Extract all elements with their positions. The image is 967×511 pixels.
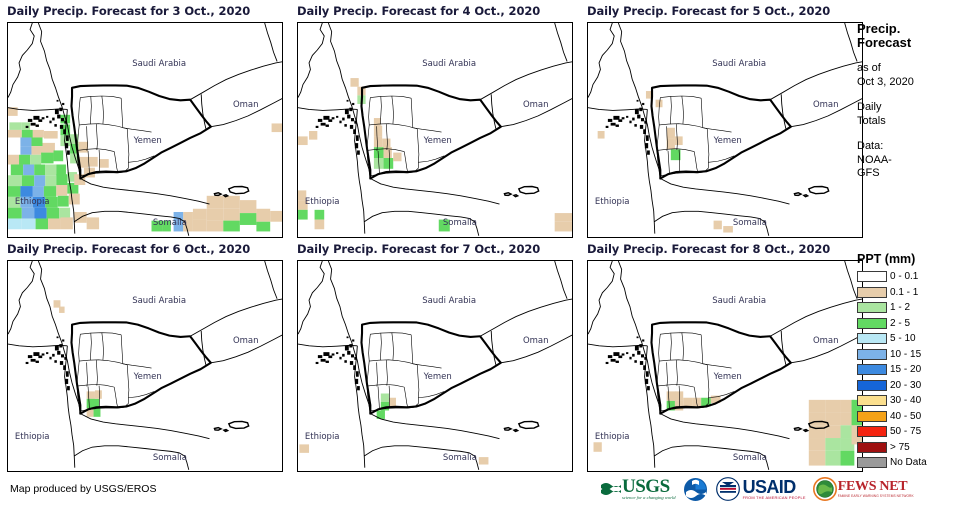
ppt-legend-swatch — [857, 395, 887, 406]
panel-2-map: Saudi ArabiaOmanYemenEthiopiaSomalia — [297, 22, 573, 238]
ppt-legend-row: 1 - 2 — [857, 300, 967, 316]
panel-3-title: Daily Precip. Forecast for 5 Oct., 2020 — [587, 4, 830, 18]
panel-3-raster — [588, 23, 863, 238]
ppt-legend-row: 10 - 15 — [857, 347, 967, 363]
ppt-legend-label: 30 - 40 — [890, 395, 921, 406]
ppt-legend-row: No Data — [857, 455, 967, 471]
panel-2-title: Daily Precip. Forecast for 4 Oct., 2020 — [297, 4, 540, 18]
ppt-legend-row: 0.1 - 1 — [857, 285, 967, 301]
ppt-legend-label: 0 - 0.1 — [890, 271, 918, 282]
ppt-legend-row: 0 - 0.1 — [857, 269, 967, 285]
ppt-legend-swatch — [857, 380, 887, 391]
usgs-logo-tagline: science for a changing world — [622, 496, 676, 501]
sidebar-totals-line1: Daily — [857, 101, 967, 115]
noaa-logo — [683, 476, 708, 502]
sidebar-title-line2: Forecast — [857, 36, 967, 50]
ppt-legend-label: 5 - 10 — [890, 333, 916, 344]
ppt-legend-swatch — [857, 333, 887, 344]
ppt-legend-label: > 75 — [890, 442, 910, 453]
map-credit-text: Map produced by USGS/EROS — [10, 483, 156, 495]
sidebar-title: Precip. Forecast — [857, 22, 967, 50]
ppt-legend-swatch — [857, 349, 887, 360]
panel-2-raster — [298, 23, 573, 238]
panel-4-title: Daily Precip. Forecast for 6 Oct., 2020 — [7, 242, 250, 256]
agency-logo-strip: USGS science for a changing world USAID … — [600, 474, 914, 504]
ppt-legend-label: 10 - 15 — [890, 349, 921, 360]
sidebar-data-source1: NOAA- — [857, 154, 967, 168]
usgs-logo-text: USGS — [622, 477, 676, 496]
usaid-logo: USAID FROM THE AMERICAN PEOPLE — [715, 476, 806, 502]
ppt-legend-row: 2 - 5 — [857, 316, 967, 332]
ppt-legend-label: No Data — [890, 457, 927, 468]
noaa-seal-icon — [683, 477, 708, 502]
ppt-legend-label: 1 - 2 — [890, 302, 910, 313]
ppt-legend-swatch — [857, 457, 887, 468]
ppt-legend-swatch — [857, 287, 887, 298]
panel-5-title: Daily Precip. Forecast for 7 Oct., 2020 — [297, 242, 540, 256]
ppt-legend-row: 15 - 20 — [857, 362, 967, 378]
ppt-legend-swatch — [857, 426, 887, 437]
ppt-legend-row: > 75 — [857, 440, 967, 456]
panel-3-map: Saudi ArabiaOmanYemenEthiopiaSomalia — [587, 22, 863, 238]
fewsnet-logo-text: FEWS NET — [838, 480, 914, 495]
ppt-legend-label: 2 - 5 — [890, 318, 910, 329]
sidebar-data-label: Data: — [857, 140, 967, 154]
panel-5-map: Saudi ArabiaOmanYemenEthiopiaSomalia — [297, 260, 573, 472]
panel-1-map: Saudi ArabiaOmanYemenEthiopiaSomalia — [7, 22, 283, 238]
fewsnet-logo: FEWS NET FAMINE EARLY WARNING SYSTEMS NE… — [813, 476, 914, 502]
sidebar-asof-date: Oct 3, 2020 — [857, 76, 967, 90]
usaid-seal-icon — [715, 477, 741, 501]
ppt-legend-label: 0.1 - 1 — [890, 287, 918, 298]
usgs-logo: USGS science for a changing world — [600, 476, 676, 502]
usgs-wave-icon — [600, 481, 622, 498]
usaid-logo-text: USAID — [743, 478, 806, 496]
sidebar-title-line1: Precip. — [857, 22, 967, 36]
ppt-legend-swatch — [857, 411, 887, 422]
ppt-legend-swatch — [857, 271, 887, 282]
usaid-logo-tagline: FROM THE AMERICAN PEOPLE — [743, 496, 806, 500]
ppt-legend-row: 40 - 50 — [857, 409, 967, 425]
ppt-legend-label: 20 - 30 — [890, 380, 921, 391]
ppt-legend-title: PPT (mm) — [857, 252, 967, 266]
fewsnet-globe-icon — [813, 477, 837, 501]
sidebar-data-source-block: Data: NOAA- GFS — [857, 140, 967, 181]
sidebar-totals-line2: Totals — [857, 115, 967, 129]
ppt-legend-label: 15 - 20 — [890, 364, 921, 375]
panel-1-title: Daily Precip. Forecast for 3 Oct., 2020 — [7, 4, 250, 18]
sidebar-asof-label: as of — [857, 62, 967, 76]
ppt-legend-swatch — [857, 364, 887, 375]
ppt-legend-rows: 0 - 0.10.1 - 11 - 22 - 55 - 1010 - 1515 … — [857, 269, 967, 471]
ppt-legend-label: 40 - 50 — [890, 411, 921, 422]
panel-6-map: Saudi ArabiaOmanYemenEthiopiaSomalia — [587, 260, 863, 472]
ppt-legend-swatch — [857, 302, 887, 313]
forecast-info-sidebar: Precip. Forecast as of Oct 3, 2020 Daily… — [857, 22, 967, 181]
panel-1-raster — [8, 23, 283, 238]
panel-4-map: Saudi ArabiaOmanYemenEthiopiaSomalia — [7, 260, 283, 472]
ppt-legend-label: 50 - 75 — [890, 426, 921, 437]
ppt-color-legend: PPT (mm) 0 - 0.10.1 - 11 - 22 - 55 - 101… — [857, 252, 967, 471]
ppt-legend-swatch — [857, 318, 887, 329]
panel-4-raster — [8, 261, 283, 472]
ppt-legend-row: 5 - 10 — [857, 331, 967, 347]
panel-5-raster — [298, 261, 573, 472]
sidebar-data-source2: GFS — [857, 167, 967, 181]
ppt-legend-row: 50 - 75 — [857, 424, 967, 440]
panel-6-raster — [588, 261, 863, 472]
ppt-legend-row: 30 - 40 — [857, 393, 967, 409]
fewsnet-logo-tagline: FAMINE EARLY WARNING SYSTEMS NETWORK — [838, 495, 914, 498]
sidebar-totals-block: Daily Totals — [857, 101, 967, 128]
ppt-legend-swatch — [857, 442, 887, 453]
sidebar-asof-block: as of Oct 3, 2020 — [857, 62, 967, 89]
panel-6-title: Daily Precip. Forecast for 8 Oct., 2020 — [587, 242, 830, 256]
ppt-legend-row: 20 - 30 — [857, 378, 967, 394]
